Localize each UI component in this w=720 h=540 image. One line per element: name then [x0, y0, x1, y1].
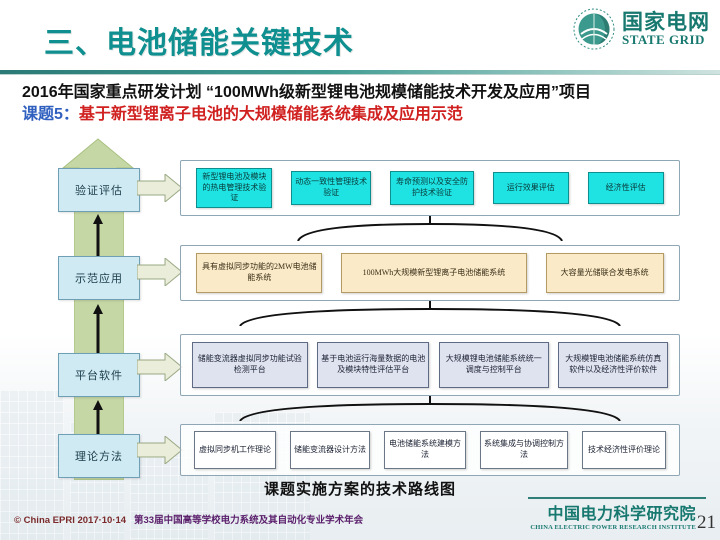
row-cell[interactable]: 动态一致性管理技术验证: [291, 171, 371, 205]
stage-box-2[interactable]: 平台软件: [58, 353, 140, 397]
row-connector-0: [180, 215, 680, 241]
subject-title: 课题5：基于新型锂离子电池的大规模储能系统集成及应用示范: [22, 100, 463, 124]
epri-logo: 中国电力科学研究院 CHINA ELECTRIC POWER RESEARCH …: [530, 500, 696, 531]
footer-conference: 第33届中国高等学校电力系统及其自动化专业学术年会: [134, 515, 363, 526]
stage-box-3[interactable]: 理论方法: [58, 434, 140, 478]
epri-name-en: CHINA ELECTRIC POWER RESEARCH INSTITUTE: [530, 524, 696, 531]
logo-text-en: STATE GRID: [622, 33, 710, 46]
row-cell[interactable]: 基于电池运行海量数据的电池及模块特性评估平台: [317, 342, 429, 388]
platform-software-row: 储能变流器虚拟同步功能试验检测平台 基于电池运行海量数据的电池及模块特性评估平台…: [180, 334, 680, 396]
row-cell[interactable]: 大规模锂电池储能系统仿真软件以及经济性评价软件: [558, 342, 668, 388]
row-cell[interactable]: 新型锂电池及模块的热电管理技术验证: [196, 168, 272, 208]
footer-divider: [528, 497, 706, 499]
slide-header: 三、电池储能关键技术 国家电网 STATE GRID: [0, 0, 720, 72]
row-cell[interactable]: 虚拟同步机工作理论: [194, 431, 276, 469]
row-cell[interactable]: 运行效果评估: [493, 172, 569, 204]
row-cell[interactable]: 经济性评估: [588, 172, 664, 204]
stage-box-1[interactable]: 示范应用: [58, 256, 140, 300]
header-divider-thin: [0, 74, 720, 75]
subject-text: 基于新型锂离子电池的大规模储能系统集成及应用示范: [79, 106, 463, 123]
state-grid-globe-icon: [573, 8, 615, 50]
project-title: 2016年国家重点研发计划 “100MWh级新型锂电池规模储能技术开发及应用”项…: [22, 78, 591, 102]
row-connector-1: [180, 300, 680, 326]
row-connector-2: [180, 395, 680, 421]
footer-credit: © China EPRI 2017·10·14 第33届中国高等学校电力系统及其…: [14, 512, 363, 526]
demonstration-application-row: 具有虚拟同步功能的2MW电池储能系统 100MWh大规模新型锂离子电池储能系统 …: [180, 245, 680, 301]
row-cell[interactable]: 储能变流器虚拟同步功能试验检测平台: [192, 342, 308, 388]
row-cell[interactable]: 大容量光储联合发电系统: [546, 253, 664, 293]
footer-copyright: © China EPRI 2017·10·14: [14, 515, 126, 526]
epri-name-cn: 中国电力科学研究院: [530, 500, 696, 524]
theory-method-row: 虚拟同步机工作理论 储能变流器设计方法 电池储能系统建模方法 系统集成与协调控制…: [180, 424, 680, 476]
flow-arrow-icon-1: [137, 258, 183, 286]
stage-ladder: 验证评估 示范应用 平台软件 理论方法: [62, 138, 134, 478]
row-cell[interactable]: 储能变流器设计方法: [290, 431, 370, 469]
stage-box-0[interactable]: 验证评估: [58, 168, 140, 212]
page-number: 21: [697, 512, 716, 534]
verification-evaluation-row: 新型锂电池及模块的热电管理技术验证 动态一致性管理技术验证 寿命预测以及安全防护…: [180, 160, 680, 216]
row-cell[interactable]: 具有虚拟同步功能的2MW电池储能系统: [196, 253, 322, 293]
flow-arrow-icon-2: [137, 353, 183, 381]
row-cell[interactable]: 寿命预测以及安全防护技术验证: [390, 171, 474, 205]
row-cell[interactable]: 系统集成与协调控制方法: [480, 431, 568, 469]
flow-arrow-icon-3: [137, 436, 183, 464]
state-grid-logo: 国家电网 STATE GRID: [573, 8, 710, 50]
ladder-up-arrow-icon-1: [93, 304, 103, 358]
row-cell[interactable]: 技术经济性评价理论: [582, 431, 666, 469]
flow-arrow-icon-0: [137, 174, 183, 202]
row-cell[interactable]: 100MWh大规模新型锂离子电池储能系统: [341, 253, 527, 293]
subject-label: 课题5：: [22, 106, 79, 123]
row-cell[interactable]: 电池储能系统建模方法: [384, 431, 466, 469]
diagram-caption: 课题实施方案的技术路线图: [0, 478, 720, 499]
row-cell[interactable]: 大规模锂电池储能系统统一调度与控制平台: [439, 342, 549, 388]
ladder-up-arrow-icon-0: [93, 214, 103, 258]
logo-text-cn: 国家电网: [622, 12, 710, 33]
page-title: 三、电池储能关键技术: [44, 18, 354, 62]
